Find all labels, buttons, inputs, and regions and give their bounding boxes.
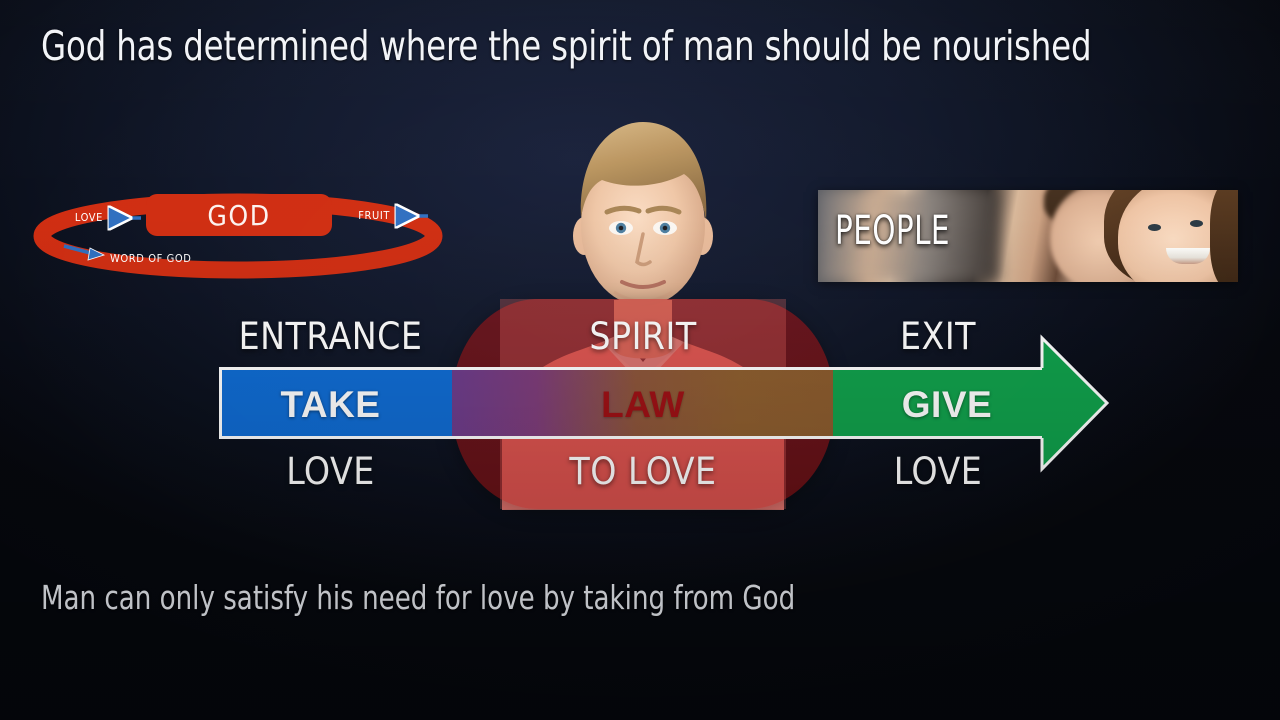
god-cycle-diagram: GOD LOVE FRUIT WORD OF GOD xyxy=(28,188,448,280)
people-banner: PEOPLE xyxy=(818,190,1238,282)
page-title: God has determined where the spirit of m… xyxy=(41,22,1091,70)
people-label: PEOPLE xyxy=(835,209,950,253)
spirit-label: SPIRIT xyxy=(452,317,834,357)
entrance-label: ENTRANCE xyxy=(228,317,433,357)
to-love-label: TO LOVE xyxy=(452,452,834,492)
person-eye-right xyxy=(1190,220,1203,227)
give-love-label: LOVE xyxy=(848,452,1028,492)
word-of-god-label: WORD OF GOD xyxy=(110,252,192,265)
person-eye-left xyxy=(1148,224,1161,231)
exit-label: EXIT xyxy=(848,317,1028,357)
take-love-label: LOVE xyxy=(228,452,433,492)
page-caption: Man can only satisfy his need for love b… xyxy=(41,578,795,618)
give-label: GIVE xyxy=(852,385,1042,425)
god-box-label: GOD xyxy=(207,199,270,232)
arrowhead-icon xyxy=(1042,337,1106,470)
fruit-label: FRUIT xyxy=(358,209,390,222)
take-label: TAKE xyxy=(228,385,433,425)
love-label: LOVE xyxy=(75,211,103,224)
slide-canvas: God has determined where the spirit of m… xyxy=(0,0,1280,720)
person-hair-side xyxy=(1210,190,1238,282)
law-label: LAW xyxy=(452,385,834,425)
